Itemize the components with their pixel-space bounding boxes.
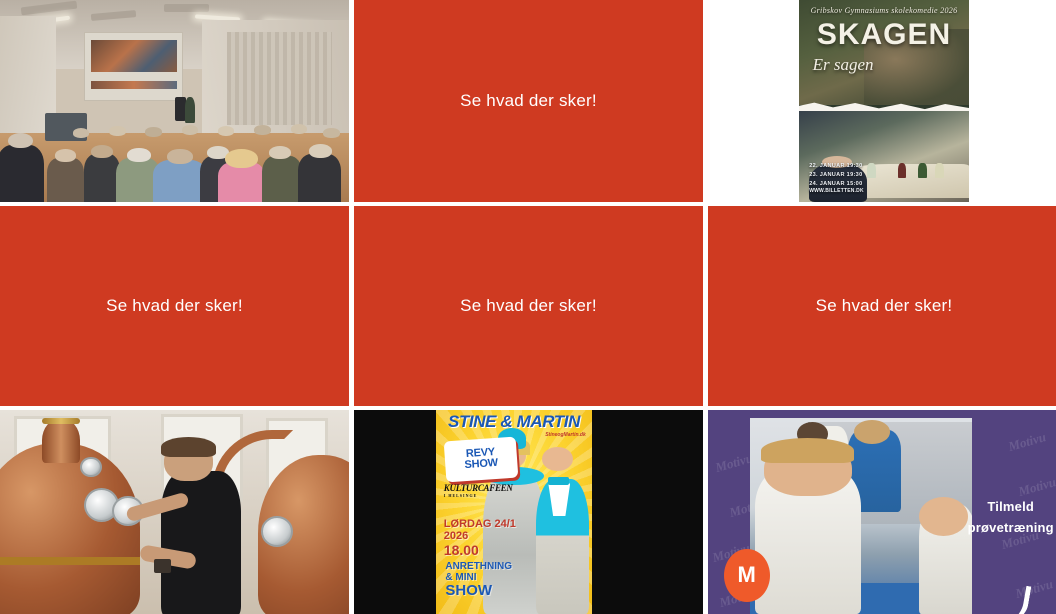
date-line-2: 2026: [444, 530, 516, 542]
signup-call-to-action[interactable]: Tilmeld prøvetræning: [965, 496, 1056, 539]
promo-label: Se hvad der sker!: [460, 296, 597, 316]
event-tile-grid: Se hvad der sker! Gribskov Gymnasiums sk…: [0, 0, 1056, 606]
venue-name: KULTURCAFEEN: [444, 483, 513, 493]
tile-promo-3[interactable]: Se hvad der sker!: [354, 206, 703, 406]
still-band: [0, 557, 140, 565]
watermark: Motivu: [1006, 430, 1047, 456]
poster-date-1: 22. JANUAR 19:30: [809, 162, 864, 171]
audience: [0, 97, 349, 202]
poster-venue: KULTURCAFEEN I HELSINGE: [444, 483, 513, 498]
skagen-poster: Gribskov Gymnasiums skolekomedie 2026 SK…: [799, 0, 969, 202]
poster-date-3: 24. JANUAR 15:00: [809, 180, 864, 189]
child-right-head: [919, 497, 968, 536]
motivu-logo: M: [724, 549, 770, 602]
bow-tie: [548, 477, 568, 485]
bottle: [918, 163, 927, 178]
tile-promo-2[interactable]: Se hvad der sker!: [0, 206, 349, 406]
revy-show-badge: REVY SHOW: [444, 436, 518, 482]
poster-date-2: 23. JANUAR 19:30: [809, 171, 864, 180]
tile-auditorium-photo[interactable]: [0, 0, 349, 202]
tile-promo-4[interactable]: Se hvad der sker!: [708, 206, 1056, 406]
child-foreground-hair: [761, 438, 854, 463]
watermark: Motivu: [714, 450, 755, 476]
poster-url: WWW.BILLETTEN.DK: [809, 188, 864, 196]
ceiling-panel: [164, 4, 209, 12]
promo-label: Se hvad der sker!: [106, 296, 243, 316]
tile-revy-poster[interactable]: STINE & MARTIN StineogMartin.dk REVY SHO…: [354, 410, 703, 614]
person-body: [161, 471, 241, 614]
cta-line-1: Tilmeld: [965, 496, 1056, 517]
slide-strip: [91, 81, 177, 90]
poster-dates: 22. JANUAR 19:30 23. JANUAR 19:30 24. JA…: [809, 162, 864, 196]
still-neck: [42, 418, 80, 463]
pressure-gauge: [80, 457, 101, 477]
poster-subtitle: Er sagen: [813, 55, 874, 75]
stine-martin-poster: STINE & MARTIN StineogMartin.dk REVY SHO…: [436, 410, 592, 614]
bottle: [867, 163, 876, 178]
tile-promo-1[interactable]: Se hvad der sker!: [354, 0, 703, 202]
poster-title: STINE & MARTIN: [436, 412, 592, 432]
tile-skagen-poster[interactable]: Gribskov Gymnasiums skolekomedie 2026 SK…: [708, 0, 1056, 202]
tile-karate-banner[interactable]: Motivu Motivu Motivu Motivu Motivu Motiv…: [708, 410, 1056, 614]
still-cap: [42, 418, 80, 424]
person-hair: [161, 437, 217, 457]
poster-extra: ANRETHNING & MINI SHOW: [445, 561, 512, 600]
bottle: [898, 163, 907, 178]
projection-screen: [84, 32, 184, 101]
promo-label: Se hvad der sker!: [816, 296, 953, 316]
swoosh-icon: [964, 576, 1032, 614]
pressure-gauge: [261, 516, 293, 547]
copper-still: [0, 443, 140, 614]
karate-photo: [750, 418, 972, 614]
badge-line-2: SHOW: [465, 458, 499, 472]
poster-title: SKAGEN: [799, 18, 969, 52]
venue-city: I HELSINGE: [444, 493, 513, 498]
poster-kicker: Gribskov Gymnasiums skolekomedie 2026: [799, 6, 969, 15]
logo-letter: M: [738, 562, 756, 588]
promo-label: Se hvad der sker!: [460, 91, 597, 111]
cta-line-2: prøvetræning: [965, 517, 1056, 538]
tile-distillery-photo[interactable]: [0, 410, 349, 614]
date-line-3: 18.00: [444, 543, 516, 559]
mirrored-child-blue-head: [854, 420, 889, 443]
slide-image: [91, 40, 177, 72]
bottle: [935, 163, 944, 178]
poster-date: LØRDAG 24/1 2026 18.00: [444, 518, 516, 558]
poster-top-photo: [799, 0, 969, 105]
extra-line-3: SHOW: [445, 583, 512, 600]
poster-website: StineogMartin.dk: [545, 432, 586, 438]
wristwatch: [154, 559, 171, 573]
extra-line-1: ANRETHNING: [445, 561, 512, 572]
date-line-1: LØRDAG 24/1: [444, 518, 516, 530]
